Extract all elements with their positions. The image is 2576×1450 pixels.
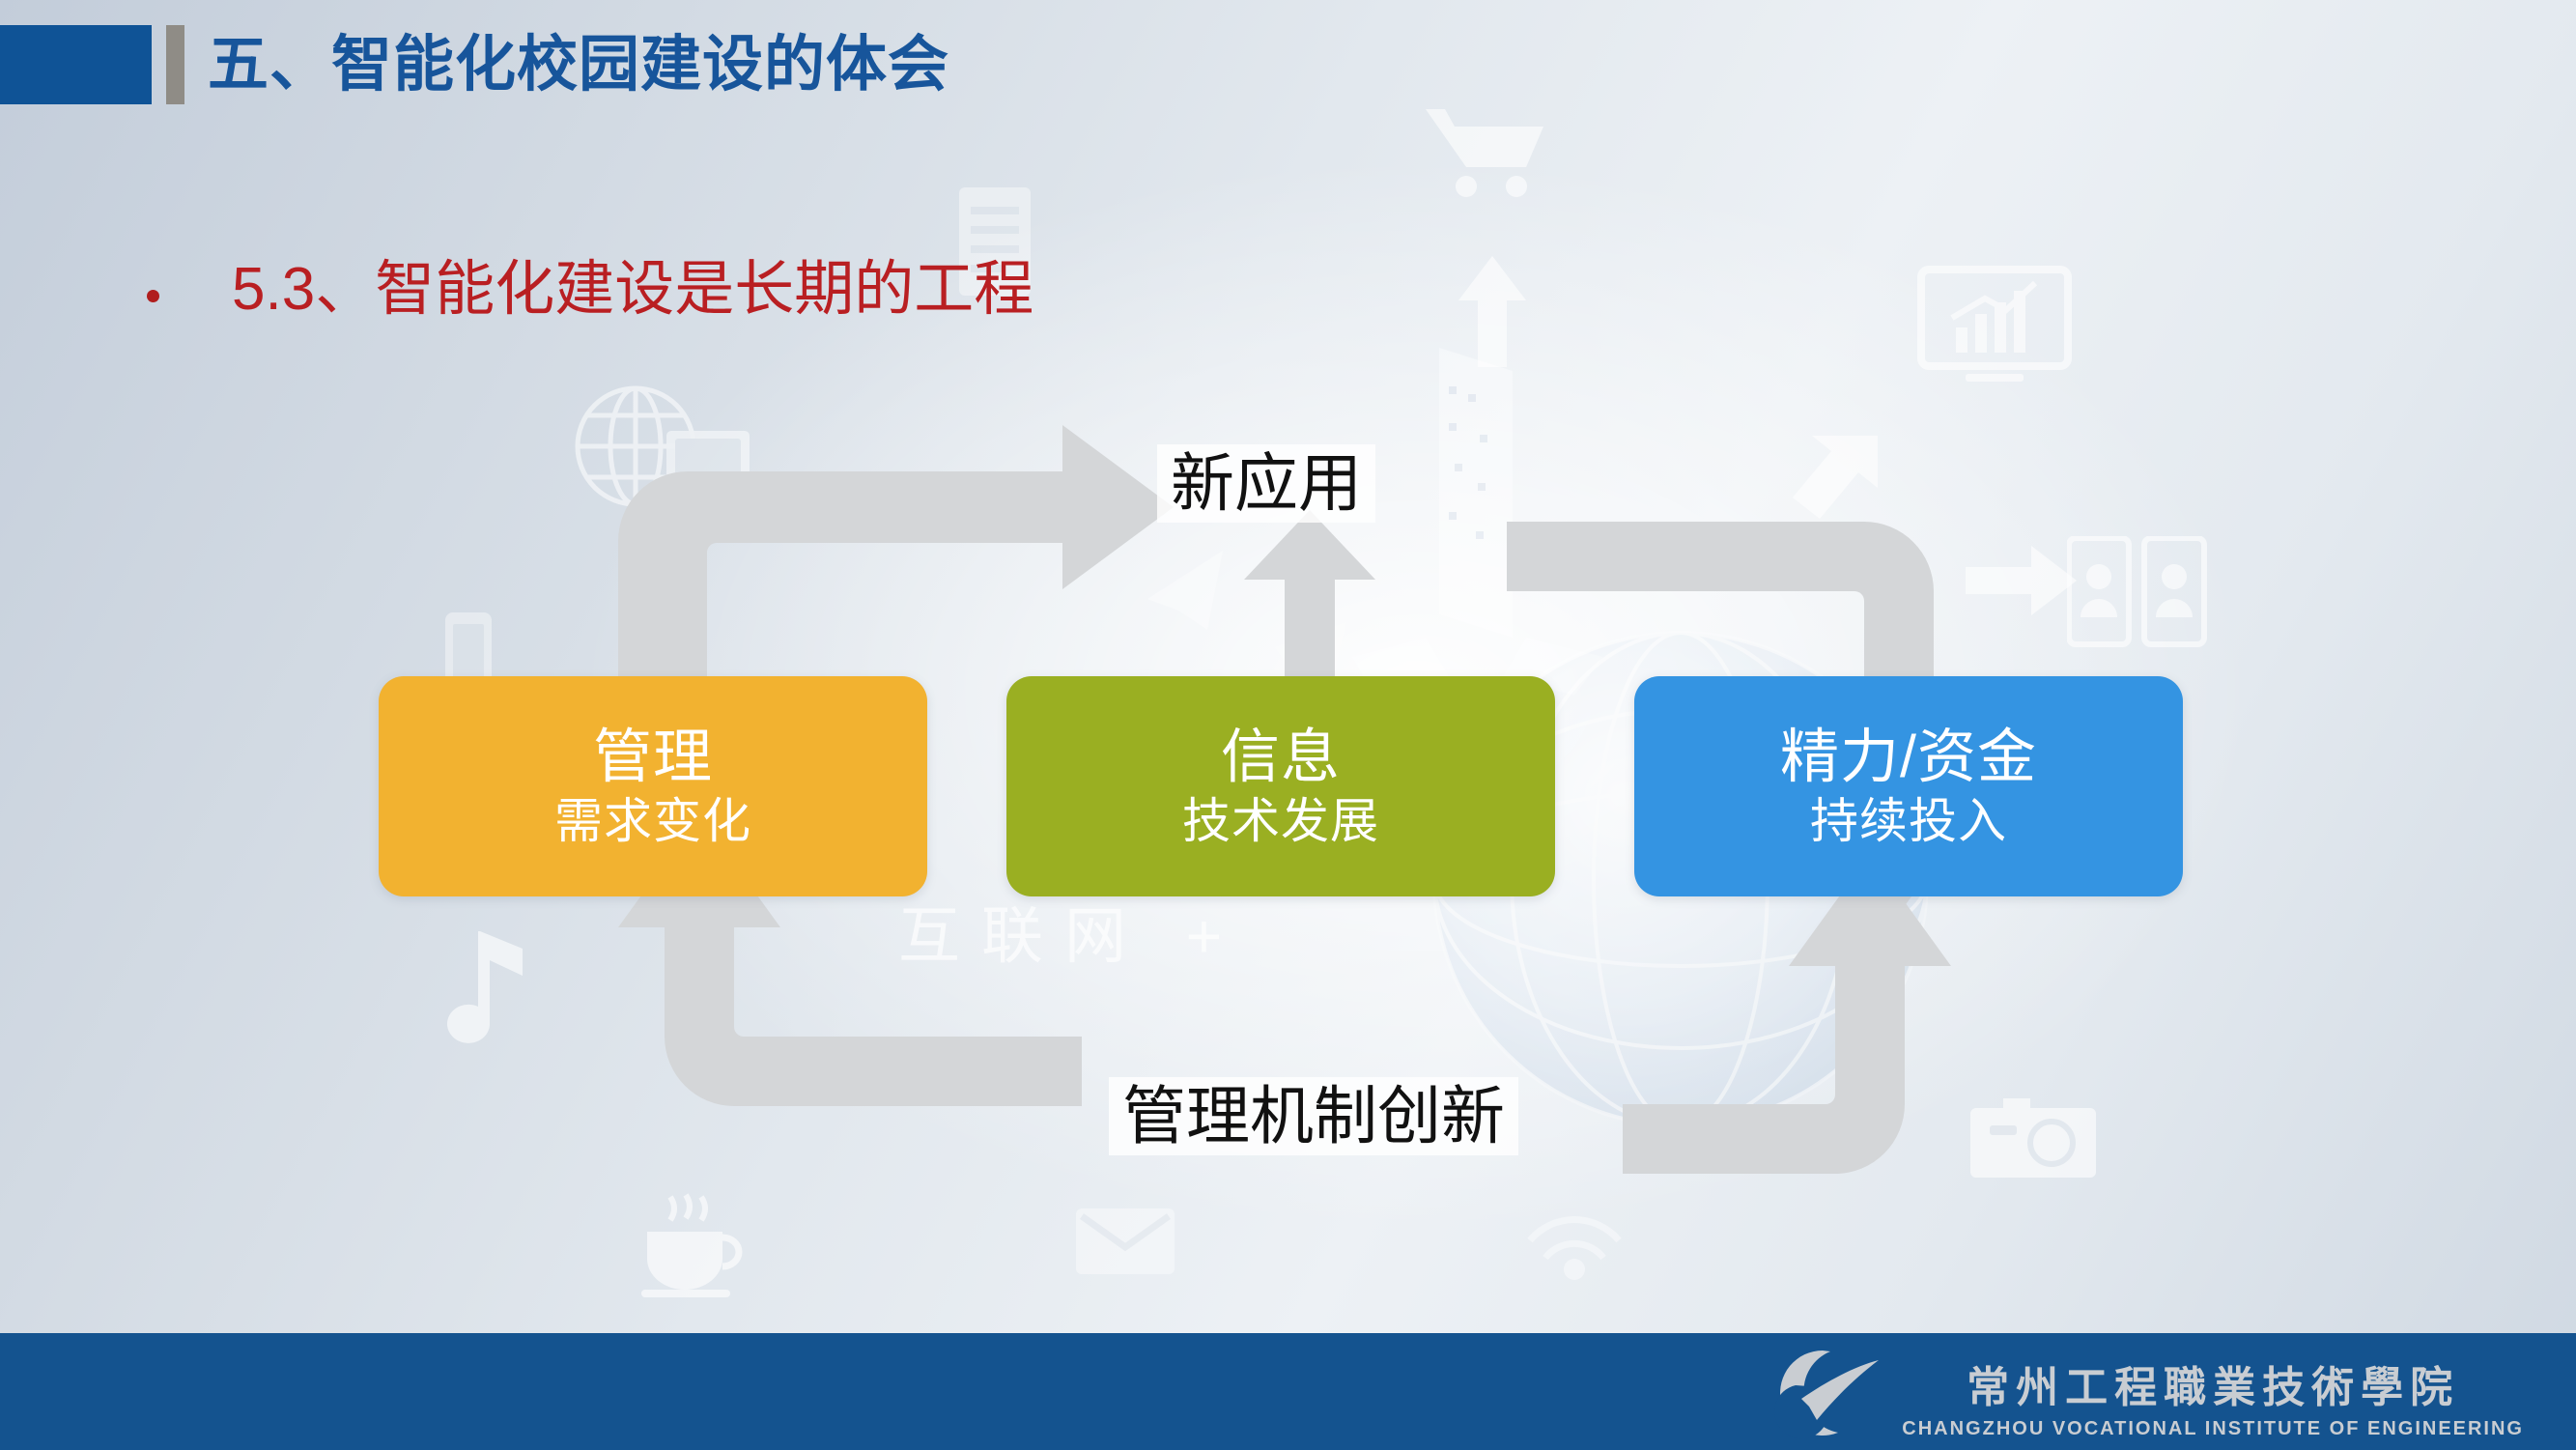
process-box-fund-subtitle: 持续投入 xyxy=(1810,791,2007,851)
diagonal-arrow-icon xyxy=(1777,430,1883,536)
institution-logo: 常州工程職業技術學院 CHANGZHOU VOCATIONAL INSTITUT… xyxy=(1767,1345,2524,1441)
institution-logo-text: 常州工程職業技術學院 CHANGZHOU VOCATIONAL INSTITUT… xyxy=(1902,1360,2524,1441)
diagram-label-management-mechanism: 管理机制创新 xyxy=(1109,1077,1518,1155)
process-box-manage-title: 管理 xyxy=(593,722,713,791)
globe-computer-icon xyxy=(570,367,763,541)
user-cards-icon xyxy=(2067,536,2207,652)
up-arrow-decor-icon xyxy=(1458,256,1526,367)
process-box-info-subtitle: 技术发展 xyxy=(1182,791,1379,851)
institution-logo-mark-icon xyxy=(1767,1345,1882,1441)
monitor-chart-icon xyxy=(1917,266,2072,391)
bullet-text: 5.3、智能化建设是长期的工程 xyxy=(232,246,1033,333)
header-accent-square xyxy=(0,25,152,104)
shopping-cart-icon xyxy=(1420,101,1555,208)
bullet-marker xyxy=(147,290,159,302)
process-box-info[interactable]: 信息 技术发展 xyxy=(1006,676,1555,896)
mail-icon xyxy=(1072,1203,1178,1280)
slide-canvas: 五、智能化校园建设的体会 5.3、智能化建设是长期的工程 互联网 + 管理 需求… xyxy=(0,0,2576,1450)
right-arrow-decor-icon xyxy=(1966,546,2077,615)
process-box-manage-subtitle: 需求变化 xyxy=(554,791,751,851)
institution-name-en: CHANGZHOU VOCATIONAL INSTITUTE OF ENGINE… xyxy=(1902,1416,2524,1441)
page-title: 五、智能化校园建设的体会 xyxy=(208,21,949,108)
watermark-text: 互联网 + xyxy=(898,887,1243,976)
footer-bar: 常州工程職業技術學院 CHANGZHOU VOCATIONAL INSTITUT… xyxy=(0,1333,2576,1450)
camera-icon xyxy=(1970,1087,2096,1183)
coffee-cup-icon xyxy=(637,1193,749,1299)
header-accent-bar xyxy=(166,25,184,104)
diagram-label-new-application: 新应用 xyxy=(1157,444,1375,523)
institution-name-cn: 常州工程職業技術學院 xyxy=(1967,1360,2459,1416)
process-box-manage[interactable]: 管理 需求变化 xyxy=(379,676,927,896)
process-box-fund[interactable]: 精力/资金 持续投入 xyxy=(1634,676,2183,896)
music-note-icon xyxy=(439,927,536,1053)
process-box-info-title: 信息 xyxy=(1221,722,1341,791)
process-box-fund-title: 精力/资金 xyxy=(1780,722,2037,791)
broadcast-icon xyxy=(1516,1198,1632,1294)
